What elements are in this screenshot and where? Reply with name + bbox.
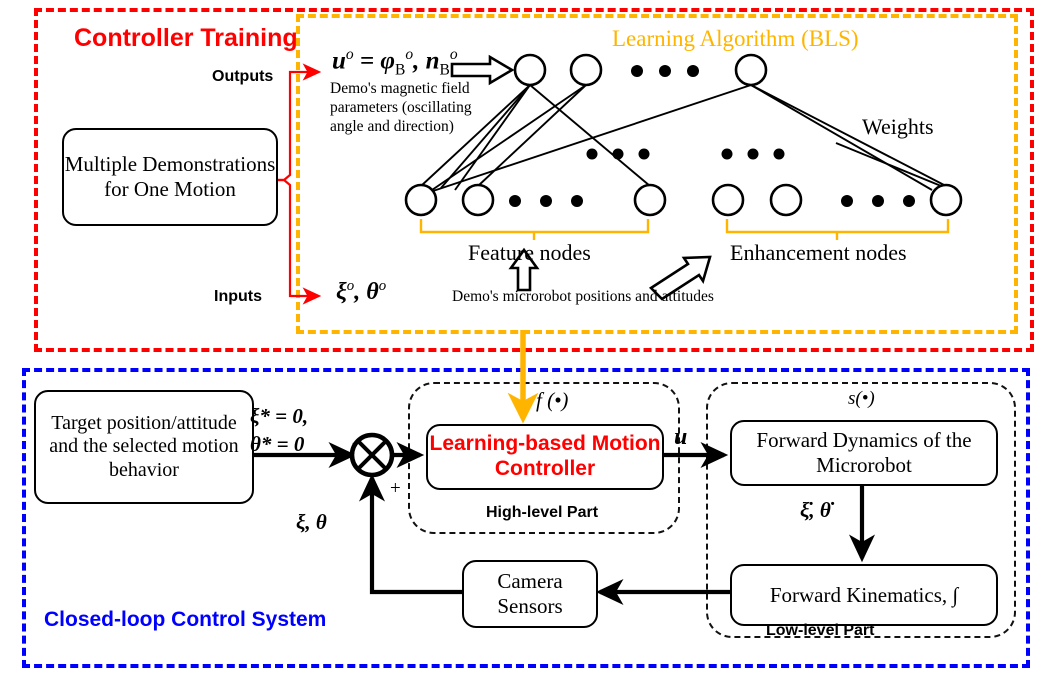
outputs-label: Outputs — [212, 68, 273, 86]
s-function-label: s(•) — [848, 388, 875, 410]
demos-branch-connector — [274, 72, 318, 296]
forward-kinematics-label: Forward Kinematics, ∫ — [770, 583, 958, 608]
low-level-part-label: Low-level Part — [766, 622, 874, 640]
forward-dynamics-box[interactable]: Forward Dynamics of the Microrobot — [730, 420, 998, 486]
high-level-part-label: High-level Part — [486, 504, 598, 522]
node-feature-3 — [635, 185, 665, 215]
closed-loop-title: Closed-loop Control System — [44, 608, 326, 632]
control-signal-label: u — [674, 424, 687, 451]
f-function-label: f (•) — [536, 388, 568, 413]
setpoint-theta-label: θ* = 0 — [250, 432, 304, 457]
camera-sensors-box[interactable]: Camera Sensors — [462, 560, 598, 628]
feedback-signal-label: ξ, θ — [296, 510, 327, 535]
target-position-box[interactable]: Target position/attitude and the selecte… — [34, 390, 254, 504]
feature-nodes-label: Feature nodes — [468, 240, 591, 266]
multiple-demonstrations-label: Multiple Demonstrations for One Motion — [64, 152, 276, 202]
learning-based-motion-controller-label: Learning-based Motion Controller — [428, 432, 662, 482]
node-feature-2 — [463, 185, 493, 215]
node-enhance-3 — [931, 185, 961, 215]
figure-canvas: Multiple Demonstrations for One Motion T… — [0, 0, 1042, 680]
sum-minus-sign: - — [352, 432, 358, 454]
rates-label: ξ̇, θ̇ — [800, 498, 831, 523]
multiple-demonstrations-box[interactable]: Multiple Demonstrations for One Motion — [62, 128, 278, 226]
node-group-braces — [421, 219, 948, 240]
enhancement-nodes-label: Enhancement nodes — [730, 240, 907, 266]
node-top-2 — [571, 55, 601, 85]
outputs-symbol: uo = φBo, nBo — [332, 46, 458, 79]
controller-training-title: Controller Training — [74, 24, 298, 53]
inputs-caption: Demo's microrobot positions and attitude… — [452, 288, 714, 306]
sum-plus-sign: + — [390, 478, 401, 500]
inputs-label: Inputs — [214, 288, 262, 306]
setpoint-xi-label: ξ* = 0, — [250, 404, 308, 429]
node-top-3 — [736, 55, 766, 85]
ellipsis-dots — [509, 65, 915, 207]
outputs-caption: Demo's magnetic field parameters (oscill… — [330, 80, 500, 137]
learning-algorithm-title: Learning Algorithm (BLS) — [612, 26, 859, 52]
forward-kinematics-box[interactable]: Forward Kinematics, ∫ — [730, 564, 998, 626]
camera-sensors-label: Camera Sensors — [464, 569, 596, 619]
node-enhance-2 — [771, 185, 801, 215]
node-feature-1 — [406, 185, 436, 215]
forward-dynamics-label: Forward Dynamics of the Microrobot — [732, 428, 996, 478]
node-enhance-1 — [713, 185, 743, 215]
target-position-label: Target position/attitude and the selecte… — [36, 412, 252, 483]
learning-based-motion-controller-box[interactable]: Learning-based Motion Controller — [426, 424, 664, 490]
weights-label: Weights — [862, 114, 934, 140]
node-top-1 — [515, 55, 545, 85]
inputs-symbol: ξo, θo — [336, 278, 386, 306]
